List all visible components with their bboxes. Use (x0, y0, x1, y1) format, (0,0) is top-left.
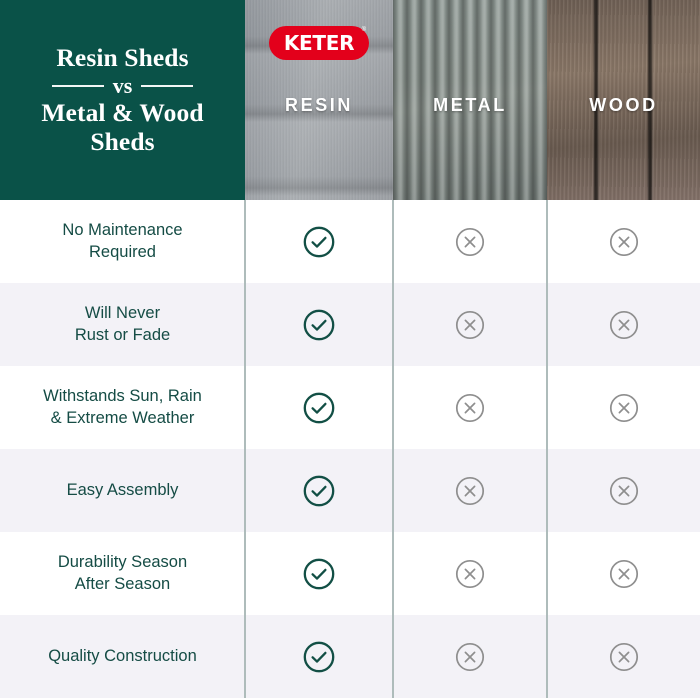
cell-resin-yes (245, 200, 393, 283)
page-title-line-3: Sheds (90, 127, 154, 157)
feature-label: Will NeverRust or Fade (0, 303, 245, 345)
check-circle-icon (302, 391, 336, 425)
feature-label-line-1: Quality Construction (48, 647, 197, 665)
table-row: Will NeverRust or Fade (0, 283, 700, 366)
cell-metal-no (393, 615, 547, 698)
header-title-cell: Resin Sheds vs Metal & Wood Sheds (0, 0, 245, 200)
registered-trademark-icon: ® (362, 27, 366, 33)
check-circle-icon (302, 640, 336, 674)
feature-label-line-2: Rust or Fade (75, 326, 170, 344)
feature-label: No MaintenanceRequired (0, 220, 245, 262)
header-column-resin: KETER ® RESIN (245, 0, 393, 200)
cell-wood-no (547, 532, 700, 615)
cross-circle-icon (454, 226, 486, 258)
header-label-wood: WOOD (589, 95, 657, 116)
cross-circle-icon (608, 641, 640, 673)
feature-label: Easy Assembly (0, 480, 245, 501)
cross-circle-icon (608, 475, 640, 507)
cell-metal-no (393, 200, 547, 283)
vs-rule-left (52, 85, 104, 87)
header-column-wood: WOOD (547, 0, 700, 200)
table-row: Durability SeasonAfter Season (0, 532, 700, 615)
vs-separator: vs (10, 75, 235, 97)
cross-circle-icon (608, 226, 640, 258)
feature-label-line-1: Withstands Sun, Rain (43, 387, 202, 405)
cross-circle-icon (454, 641, 486, 673)
cell-metal-no (393, 366, 547, 449)
cross-circle-icon (608, 392, 640, 424)
cross-circle-icon (608, 309, 640, 341)
vs-label: vs (113, 75, 133, 97)
cell-resin-yes (245, 615, 393, 698)
cell-resin-yes (245, 449, 393, 532)
feature-label-line-2: & Extreme Weather (51, 409, 195, 427)
feature-label: Quality Construction (0, 646, 245, 667)
table-row: Withstands Sun, Rain& Extreme Weather (0, 366, 700, 449)
cross-circle-icon (608, 558, 640, 590)
cell-metal-no (393, 283, 547, 366)
table-body: No MaintenanceRequiredWill NeverRust or … (0, 200, 700, 698)
keter-wordmark: KETER (284, 33, 354, 53)
table-row: No MaintenanceRequired (0, 200, 700, 283)
feature-label: Withstands Sun, Rain& Extreme Weather (0, 386, 245, 428)
feature-label-line-2: Required (89, 243, 156, 261)
cross-circle-icon (454, 392, 486, 424)
table-row: Easy Assembly (0, 449, 700, 532)
check-circle-icon (302, 308, 336, 342)
cross-circle-icon (454, 309, 486, 341)
feature-label-line-1: Easy Assembly (67, 481, 179, 499)
shed-comparison-table: Resin Sheds vs Metal & Wood Sheds KETER … (0, 0, 700, 700)
page-title-line-2: Metal & Wood (41, 98, 203, 128)
check-circle-icon (302, 557, 336, 591)
cell-metal-no (393, 532, 547, 615)
cell-wood-no (547, 615, 700, 698)
cell-metal-no (393, 449, 547, 532)
header-label-metal: METAL (433, 95, 507, 116)
cell-resin-yes (245, 366, 393, 449)
table-row: Quality Construction (0, 615, 700, 698)
cell-resin-yes (245, 283, 393, 366)
header-column-metal: METAL (393, 0, 547, 200)
keter-logo-badge: KETER ® (269, 26, 369, 60)
vs-rule-right (141, 85, 193, 87)
check-circle-icon (302, 474, 336, 508)
feature-label-line-1: No Maintenance (62, 221, 182, 239)
cross-circle-icon (454, 558, 486, 590)
feature-label: Durability SeasonAfter Season (0, 552, 245, 594)
cell-wood-no (547, 283, 700, 366)
cell-wood-no (547, 366, 700, 449)
header-label-resin: RESIN (285, 95, 353, 116)
cross-circle-icon (454, 475, 486, 507)
feature-label-line-1: Durability Season (58, 553, 187, 571)
table-header: Resin Sheds vs Metal & Wood Sheds KETER … (0, 0, 700, 200)
check-circle-icon (302, 225, 336, 259)
cell-wood-no (547, 449, 700, 532)
feature-label-line-1: Will Never (85, 304, 160, 322)
page-title-line-1: Resin Sheds (56, 43, 188, 73)
cell-resin-yes (245, 532, 393, 615)
cell-wood-no (547, 200, 700, 283)
feature-label-line-2: After Season (75, 575, 170, 593)
